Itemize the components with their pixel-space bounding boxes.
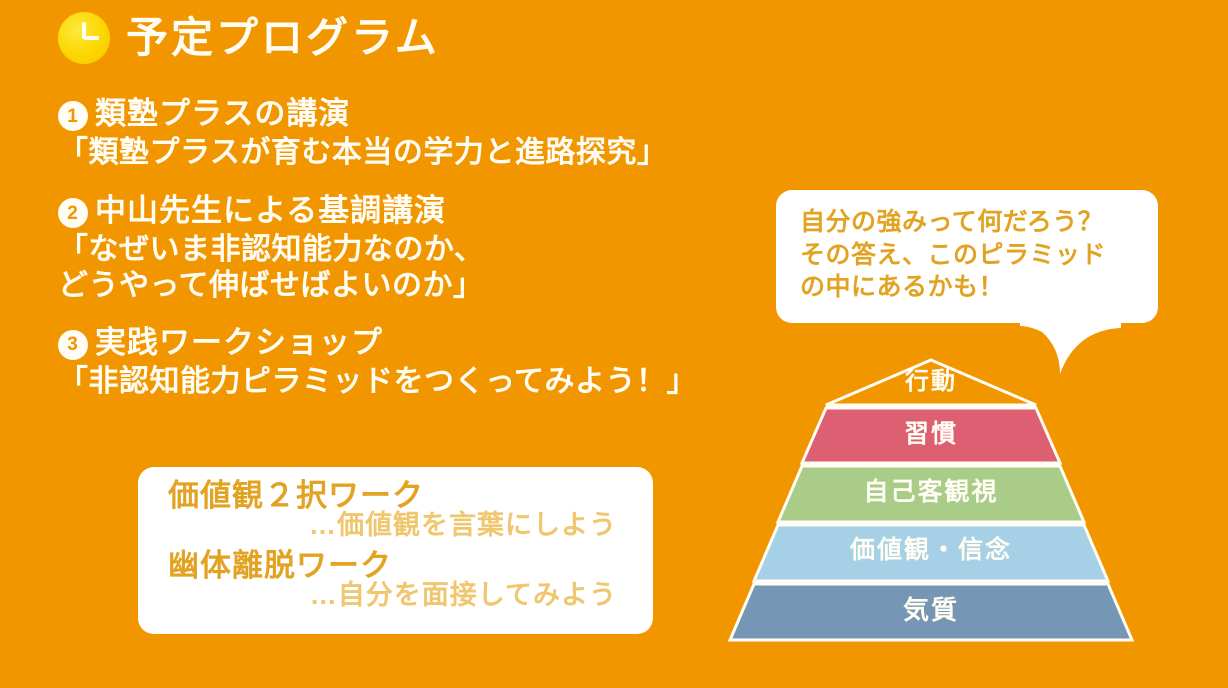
slide-canvas: 予定プログラム 1 類塾プラスの講演 「類塾プラスが育む本当の学力と進路探究」 … [0, 0, 1228, 688]
program-item-3-head: 3 実践ワークショップ [58, 325, 818, 362]
pyramid-level-1-shape [826, 360, 1036, 405]
workshop-row-1-note: …価値観を言葉にしよう [168, 510, 631, 540]
speech-bubble-body: 自分の強みって何だろう？ その答え、このピラミッド の中にあるかも！ [776, 190, 1158, 323]
pyramid-level-3-shape [778, 466, 1084, 522]
workshop-card: 価値観２択ワーク …価値観を言葉にしよう 幽体離脱ワーク …自分を面接してみよう [138, 467, 653, 634]
workshop-row-1: 価値観２択ワーク …価値観を言葉にしよう [168, 479, 631, 541]
program-item-1: 1 類塾プラスの講演 「類塾プラスが育む本当の学力と進路探究」 [58, 96, 818, 171]
program-item-2-heading: 中山先生による基調講演 [95, 193, 446, 230]
pyramid-level-5-shape [730, 584, 1132, 640]
clock-hour-hand [84, 36, 99, 40]
program-item-3-number: 3 [58, 330, 88, 360]
program-list: 1 類塾プラスの講演 「類塾プラスが育む本当の学力と進路探究」 2 中山先生によ… [58, 96, 818, 400]
page-title: 予定プログラム [126, 17, 440, 59]
speech-bubble: 自分の強みって何だろう？ その答え、このピラミッド の中にあるかも！ [776, 190, 1158, 350]
non-cognitive-pyramid: 行動 習慣 自己客観視 価値観・信念 気質 [716, 352, 1146, 652]
pyramid-level-4-shape [754, 525, 1108, 581]
program-item-1-head: 1 類塾プラスの講演 [58, 96, 818, 133]
pyramid-level-2-shape [802, 408, 1060, 463]
program-item-3-subtitle: 「非認知能力ピラミッドをつくってみよう！」 [58, 364, 818, 401]
program-item-3-heading: 実践ワークショップ [95, 325, 383, 362]
workshop-row-2-note: …自分を面接してみよう [168, 580, 631, 610]
program-item-1-number: 1 [58, 101, 88, 131]
slide-title-row: 予定プログラム [58, 12, 440, 64]
program-item-1-heading: 類塾プラスの講演 [95, 96, 350, 133]
program-item-2-head: 2 中山先生による基調講演 [58, 193, 818, 230]
program-item-3: 3 実践ワークショップ 「非認知能力ピラミッドをつくってみよう！」 [58, 325, 818, 400]
workshop-row-1-title: 価値観２択ワーク [168, 479, 631, 512]
speech-bubble-text: 自分の強みって何だろう？ その答え、このピラミッド の中にあるかも！ [800, 206, 1140, 304]
program-item-2: 2 中山先生による基調講演 「なぜいま非認知能力なのか、 どうやって伸ばせばよい… [58, 193, 818, 305]
program-item-2-number: 2 [58, 198, 88, 228]
program-item-2-subtitle: 「なぜいま非認知能力なのか、 どうやって伸ばせばよいのか」 [58, 232, 818, 305]
program-item-1-subtitle: 「類塾プラスが育む本当の学力と進路探究」 [58, 135, 818, 172]
workshop-row-2-title: 幽体離脱ワーク [168, 549, 631, 582]
clock-icon [58, 12, 110, 64]
workshop-row-2: 幽体離脱ワーク …自分を面接してみよう [168, 549, 631, 611]
pyramid-diagram [716, 352, 1146, 652]
